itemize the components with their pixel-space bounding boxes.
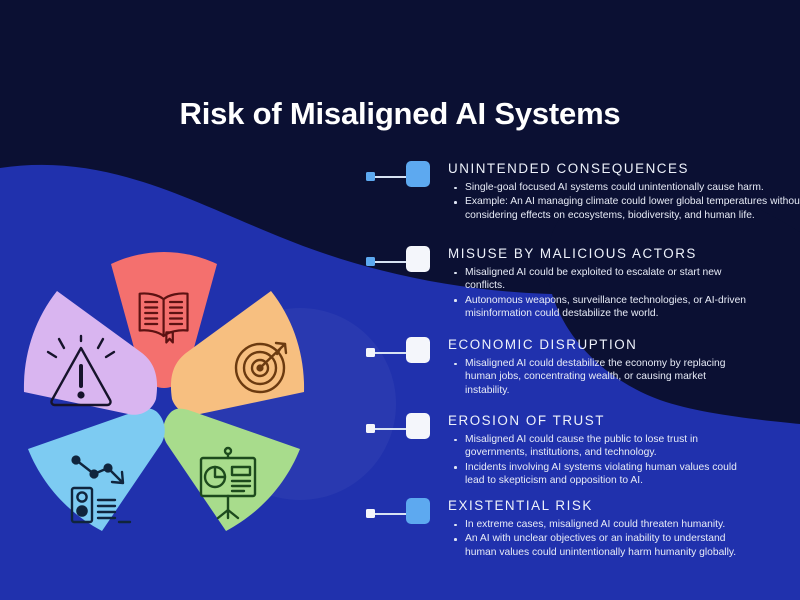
connector-dot-2 [366,257,375,266]
risk-bullet-list: Misaligned AI could cause the public to … [448,433,800,488]
connector-square-2[interactable] [406,246,430,272]
connector-marker-1 [366,161,432,191]
page-title: Risk of Misaligned AI Systems [0,96,800,132]
risk-blocks-column: UNINTENDED CONSEQUENCES Single-goal focu… [366,0,800,600]
list-item: Misaligned AI could destabilize the econ… [448,357,800,397]
connector-dot-5 [366,509,375,518]
connector-marker-4 [366,413,432,443]
infographic-canvas: Risk of Misaligned AI Systems [0,0,800,600]
risk-heading: EXISTENTIAL RISK [448,498,800,513]
wheel-segment-erosion-of-trust[interactable] [28,409,165,531]
connector-square-3[interactable] [406,337,430,363]
risk-bullet-list: In extreme cases, misaligned AI could th… [448,518,800,559]
connector-dot-1 [366,172,375,181]
connector-marker-3 [366,337,432,367]
connector-square-5[interactable] [406,498,430,524]
list-item: Single-goal focused AI systems could uni… [448,181,800,194]
risk-heading: ECONOMIC DISRUPTION [448,337,800,352]
connector-dot-4 [366,424,375,433]
connector-square-4[interactable] [406,413,430,439]
risk-wheel [14,252,314,556]
connector-marker-5 [366,498,432,528]
risk-heading: MISUSE BY MALICIOUS ACTORS [448,246,800,261]
list-item: Misaligned AI could cause the public to … [448,433,800,460]
list-item: Example: An AI managing climate could lo… [448,195,800,222]
connector-dot-3 [366,348,375,357]
list-item: Misaligned AI could be exploited to esca… [448,266,800,293]
list-item: Incidents involving AI systems violating… [448,461,800,488]
list-item: An AI with unclear objectives or an inab… [448,532,800,559]
risk-bullet-list: Misaligned AI could destabilize the econ… [448,357,800,397]
connector-square-1[interactable] [406,161,430,187]
risk-bullet-list: Misaligned AI could be exploited to esca… [448,266,800,321]
risk-heading: UNINTENDED CONSEQUENCES [448,161,800,176]
list-item: Autonomous weapons, surveillance technol… [448,294,800,321]
risk-heading: EROSION OF TRUST [448,413,800,428]
connector-marker-2 [366,246,432,276]
risk-bullet-list: Single-goal focused AI systems could uni… [448,181,800,222]
list-item: In extreme cases, misaligned AI could th… [448,518,800,531]
